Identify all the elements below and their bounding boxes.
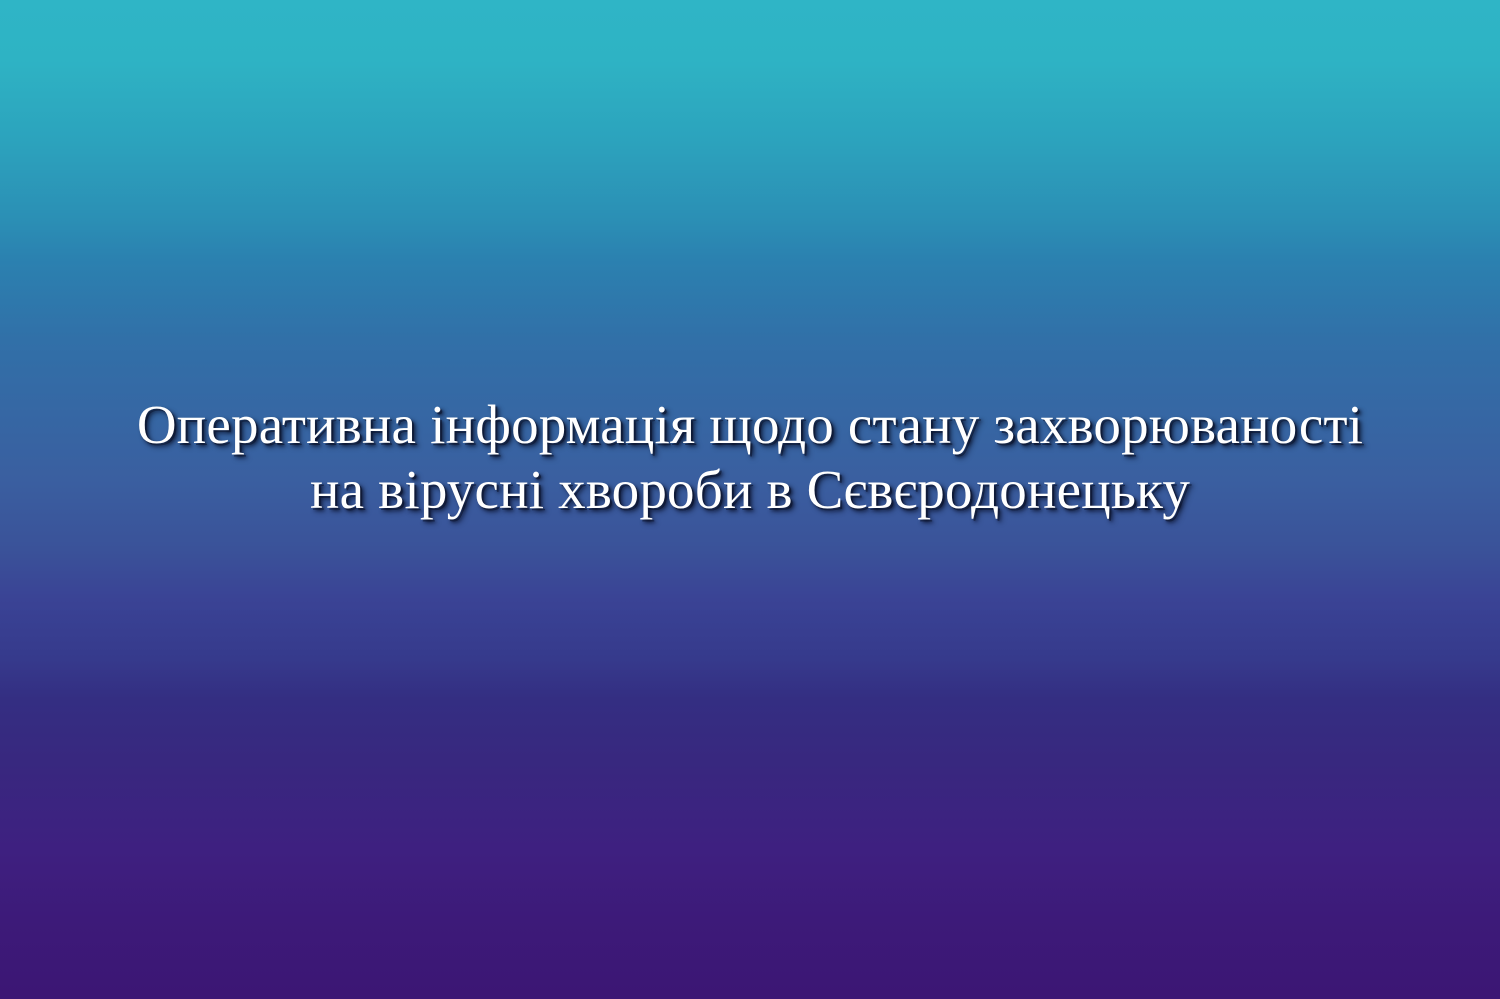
title-slide: Оперативна інформація щодо стану захворю… [0,0,1500,999]
slide-title: Оперативна інформація щодо стану захворю… [0,392,1500,522]
title-line-2: на вірусні хвороби в Сєвєродонецьку [0,457,1500,522]
title-line-1: Оперативна інформація щодо стану захворю… [0,392,1500,457]
